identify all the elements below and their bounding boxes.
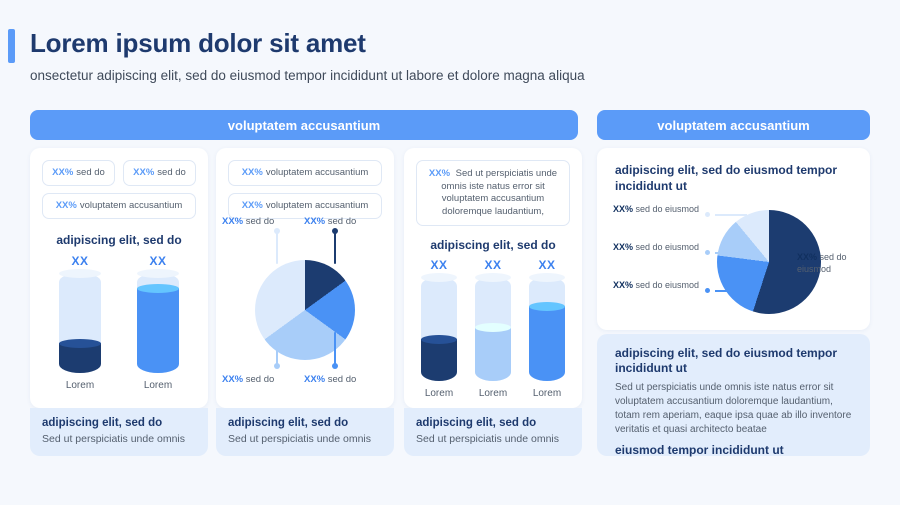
cylinder-fill-cap (529, 302, 565, 311)
column-footer-1: adipiscing elit, sed do Sed ut perspicia… (30, 408, 208, 456)
pie-label-text: sed do eiusmod (635, 242, 699, 252)
pie-label: XX% sed do (304, 374, 356, 386)
page-header: Lorem ipsum dolor sit amet onsectetur ad… (0, 0, 900, 100)
cylinder-value-label: XX (538, 258, 555, 272)
pie-label-pct: XX% (613, 280, 636, 290)
pie-connector-dot (787, 262, 792, 267)
chip-pct: XX% (56, 200, 77, 213)
chip-group-3: XX% Sed ut perspiciatis unde omnis iste … (416, 160, 570, 226)
cylinder-fill-cap (421, 335, 457, 344)
cylinder-body (137, 273, 179, 373)
pie-connector-dot (274, 228, 280, 234)
cylinder-bar: XXLorem (475, 258, 511, 399)
pie-label-pct: XX% (304, 216, 328, 227)
pie-label: XX% sed do (222, 374, 274, 386)
chip-text: sed do (76, 167, 105, 180)
cylinder-fill (475, 327, 511, 381)
cylinder-top-ellipse (421, 273, 457, 282)
pie-label-text: sed do eiusmod (635, 204, 699, 214)
column-card-1: XX% sed do XX% sed do XX% voluptatem acc… (30, 148, 208, 408)
pie-chart-2: XX% sed doXX% sed doXX% sed doXX% sed do (216, 214, 394, 404)
footer-title: adipiscing elit, sed do (42, 416, 196, 430)
pie-connector-dot (274, 363, 280, 369)
cylinder-body (59, 273, 101, 373)
cylinder-category-label: Lorem (66, 380, 94, 391)
cylinder-fill-cap (475, 323, 511, 332)
chip-pct: XX% (52, 167, 73, 180)
footer-subtitle: Sed ut perspiciatis unde omnis (416, 432, 570, 446)
pie-connector-dot (705, 212, 710, 217)
column-card-2: XX% voluptatem accusantium XX% voluptate… (216, 148, 394, 408)
pie-label-pct: XX% (222, 374, 246, 385)
footer-title: adipiscing elit, sed do (416, 416, 570, 430)
cylinder-bar: XXLorem (421, 258, 457, 399)
page-title: Lorem ipsum dolor sit amet (30, 28, 366, 59)
cylinder-body (421, 277, 457, 381)
footer-title: adipiscing elit, sed do (228, 416, 382, 430)
cylinder-body (529, 277, 565, 381)
stat-chip[interactable]: XX% voluptatem accusantium (228, 160, 382, 186)
pie-label: XX% sed do (222, 216, 274, 228)
cylinder-value-label: XX (71, 254, 88, 268)
right-footer-bottom: eiusmod tempor incididunt ut (615, 443, 852, 457)
right-card-title: adipiscing elit, sed do eiusmod tempor i… (615, 162, 855, 194)
cylinder-top-ellipse (529, 273, 565, 282)
cylinder-chart-3: XXLoremXXLoremXXLorem (404, 258, 582, 399)
column-title-1: adipiscing elit, sed do (30, 233, 208, 247)
pie-connector (334, 332, 336, 366)
pie-label-text: sed do (246, 374, 275, 385)
pie-label-pct: XX% (613, 204, 636, 214)
cylinder-value-label: XX (149, 254, 166, 268)
cylinder-fill-cap (137, 284, 179, 293)
page-subtitle: onsectetur adipiscing elit, sed do eiusm… (30, 68, 585, 83)
cylinder-chart-1: XXLoremXXLorem (30, 254, 208, 391)
column-title-3: adipiscing elit, sed do (404, 238, 582, 252)
footer-subtitle: Sed ut perspiciatis unde omnis (228, 432, 382, 446)
pie-connector (715, 214, 747, 216)
chip-row: XX% sed do XX% sed do (42, 160, 196, 186)
chip-group-1: XX% sed do XX% sed do XX% voluptatem acc… (42, 160, 196, 226)
column-card-3: XX% Sed ut perspiciatis unde omnis iste … (404, 148, 582, 408)
chip-pct: XX% (429, 168, 450, 179)
chip-text: voluptatem accusantium (80, 200, 182, 213)
pie-connector (276, 332, 278, 366)
column-footer-3: adipiscing elit, sed do Sed ut perspicia… (404, 408, 582, 456)
chip-pct: XX% (242, 200, 263, 213)
right-panel-header: voluptatem accusantium (597, 110, 870, 140)
cylinder-fill (137, 288, 179, 373)
cylinder-bar: XXLorem (529, 258, 565, 399)
pie-chart-right: XX% sed do eiusmodXX% sed do eiusmodXX% … (597, 198, 870, 328)
stat-chip[interactable]: XX% sed do (123, 160, 196, 186)
cylinder-top-ellipse (137, 269, 179, 278)
pie-label-pct: XX% (613, 242, 636, 252)
pie-slice-group (255, 260, 355, 360)
title-accent-bar (8, 29, 15, 63)
cylinder-category-label: Lorem (533, 388, 561, 399)
stat-chip[interactable]: XX% Sed ut perspiciatis unde omnis iste … (416, 160, 570, 226)
left-panel-header: voluptatem accusantium (30, 110, 578, 140)
chip-text: voluptatem accusantium (266, 167, 368, 180)
right-footer-title: adipiscing elit, sed do eiusmod tempor i… (615, 346, 852, 376)
pie-label-pct: XX% (797, 252, 820, 262)
chip-pct: XX% (133, 167, 154, 180)
column-footer-2: adipiscing elit, sed do Sed ut perspicia… (216, 408, 394, 456)
stat-chip[interactable]: XX% voluptatem accusantium (42, 193, 196, 219)
pie-connector (715, 252, 743, 254)
cylinder-category-label: Lorem (425, 388, 453, 399)
cylinder-category-label: Lorem (479, 388, 507, 399)
pie-label: XX% sed do eiusmod (611, 242, 699, 254)
cylinder-value-label: XX (430, 258, 447, 272)
pie-label: XX% sed do (304, 216, 356, 228)
cylinder-fill-cap (59, 339, 101, 348)
chip-text: Sed ut perspiciatis unde omnis iste natu… (441, 168, 557, 217)
pie-connector (276, 230, 278, 264)
stat-chip[interactable]: XX% sed do (42, 160, 115, 186)
cylinder-fill (421, 339, 457, 381)
pie-label-text: sed do (328, 216, 357, 227)
cylinder-bar: XXLorem (59, 254, 101, 391)
chip-text: sed do (157, 167, 186, 180)
pie-connector-dot (332, 363, 338, 369)
pie-label-pct: XX% (304, 374, 328, 385)
pie-connector-dot (332, 228, 338, 234)
pie-label: XX% sed do eiusmod (797, 252, 867, 275)
cylinder-fill (59, 343, 101, 373)
pie-connector-dot (705, 250, 710, 255)
pie-label-text: sed do (246, 216, 275, 227)
cylinder-body (475, 277, 511, 381)
pie-label-text: sed do eiusmod (635, 280, 699, 290)
pie-label: XX% sed do eiusmod (611, 280, 699, 292)
pie-connector (334, 230, 336, 264)
pie-connector-dot (705, 288, 710, 293)
pie-connector (715, 290, 745, 292)
right-footer-body: Sed ut perspiciatis unde omnis iste natu… (615, 381, 852, 437)
pie-label: XX% sed do eiusmod (611, 204, 699, 216)
footer-subtitle: Sed ut perspiciatis unde omnis (42, 432, 196, 446)
cylinder-fill (529, 306, 565, 381)
right-panel-footer: adipiscing elit, sed do eiusmod tempor i… (597, 334, 870, 456)
chip-text: voluptatem accusantium (266, 200, 368, 213)
right-panel-card: adipiscing elit, sed do eiusmod tempor i… (597, 148, 870, 330)
chip-pct: XX% (242, 167, 263, 180)
cylinder-top-ellipse (475, 273, 511, 282)
cylinder-value-label: XX (484, 258, 501, 272)
pie-label-pct: XX% (222, 216, 246, 227)
cylinder-bar: XXLorem (137, 254, 179, 391)
cylinder-top-ellipse (59, 269, 101, 278)
cylinder-category-label: Lorem (144, 380, 172, 391)
pie-label-text: sed do (328, 374, 357, 385)
